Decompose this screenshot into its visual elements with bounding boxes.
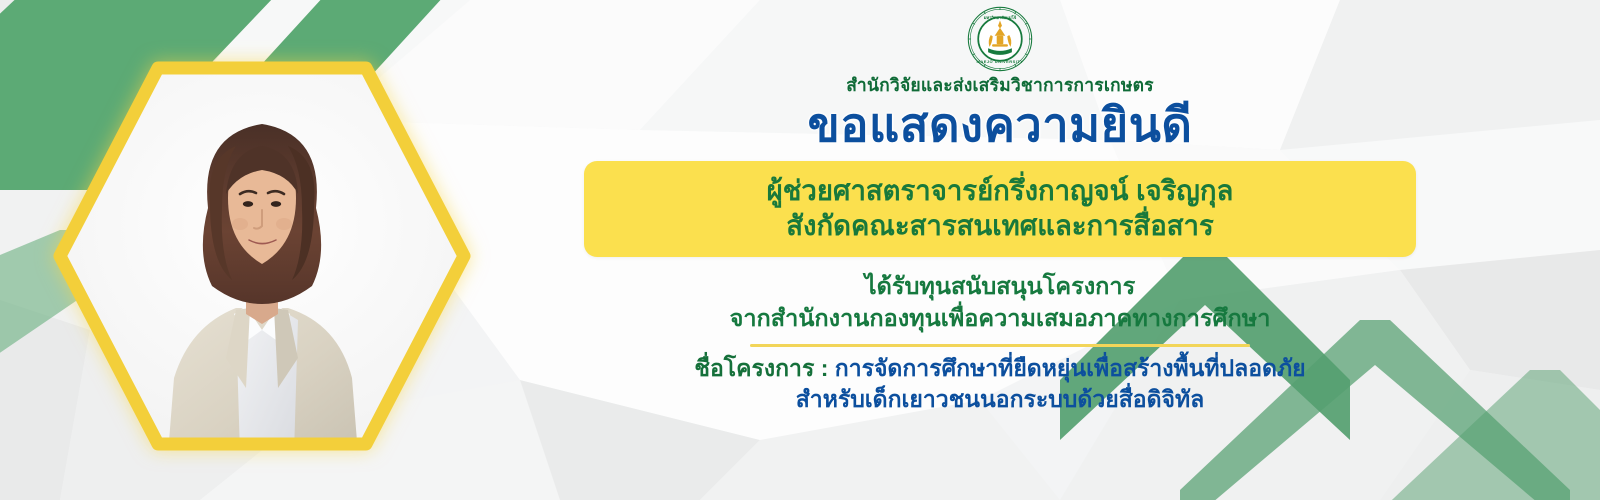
portrait-frame-svg — [50, 58, 474, 454]
project-title-part-1: การจัดการศึกษาที่ยืดหยุ่นเพื่อสร้างพื้นท… — [835, 355, 1306, 381]
project-label: ชื่อโครงการ : — [694, 355, 834, 381]
honoree-name: ผู้ช่วยศาสตราจารย์กรึ่งกาญจน์ เจริญกุล — [636, 173, 1364, 208]
honoree-affiliation: สังกัดคณะสารสนเทศและการสื่อสาร — [636, 208, 1364, 243]
project-title-line-1: ชื่อโครงการ : การจัดการศึกษาที่ยืดหยุ่นเ… — [694, 353, 1305, 384]
portrait-photo — [50, 58, 474, 454]
congratulations-banner: มหาวิทยาลัยแม่โจ้ MAEJO UNIVERSITY สำนัก… — [0, 0, 1600, 500]
grant-line-1: ได้รับทุนสนับสนุนโครงการ — [730, 271, 1271, 303]
seal-thai-text: มหาวิทยาลัยแม่โจ้ — [984, 14, 1017, 20]
project-title-line-2: สำหรับเด็กเยาวชนนอกระบบด้วยสื่อดิจิทัล — [694, 384, 1305, 415]
project-title-block: ชื่อโครงการ : การจัดการศึกษาที่ยืดหยุ่นเ… — [694, 353, 1305, 415]
banner-content: มหาวิทยาลัยแม่โจ้ MAEJO UNIVERSITY สำนัก… — [520, 0, 1480, 500]
grant-statement: ได้รับทุนสนับสนุนโครงการ จากสำนักงานกองท… — [730, 271, 1271, 334]
maejo-university-seal-icon: มหาวิทยาลัยแม่โจ้ MAEJO UNIVERSITY — [967, 6, 1033, 72]
seal-latin-text: MAEJO UNIVERSITY — [977, 59, 1024, 64]
yellow-divider — [750, 344, 1250, 347]
organization-name: สำนักวิจัยและส่งเสริมวิชาการการเกษตร — [846, 76, 1153, 95]
congratulations-headline: ขอแสดงความยินดี — [808, 100, 1193, 150]
honoree-name-box: ผู้ช่วยศาสตราจารย์กรึ่งกาญจน์ เจริญกุล ส… — [584, 161, 1416, 257]
portrait-hexagon-frame — [50, 58, 474, 454]
grant-line-2: จากสำนักงานกองทุนเพื่อความเสมอภาคทางการศ… — [730, 303, 1271, 335]
